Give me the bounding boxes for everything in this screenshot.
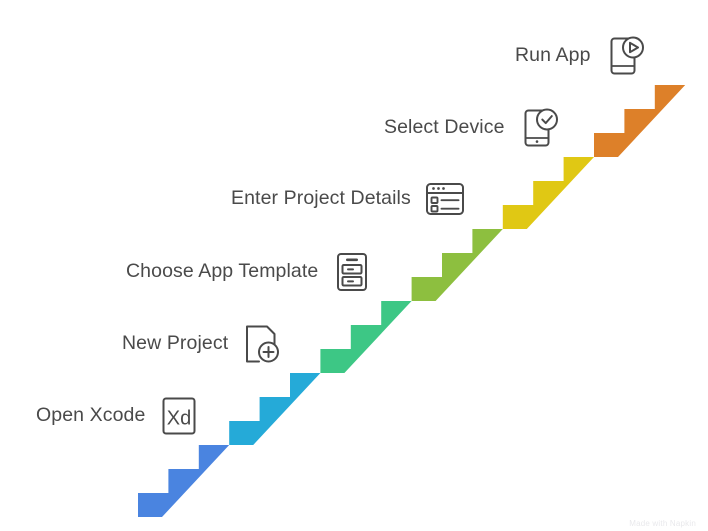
xd-square-icon: Xd bbox=[156, 393, 202, 439]
step-row-new-project[interactable]: New Project bbox=[122, 321, 285, 367]
step-label-run-app: Run App bbox=[515, 46, 602, 66]
stair-block-orange bbox=[594, 85, 685, 157]
form-window-icon bbox=[422, 176, 468, 222]
watermark-text: Made with Napkin bbox=[629, 519, 696, 528]
phone-check-icon bbox=[516, 105, 562, 151]
stair-block-blue bbox=[138, 445, 229, 517]
step-label-open-xcode: Open Xcode bbox=[36, 406, 156, 426]
step-row-enter-project-details[interactable]: Enter Project Details bbox=[231, 176, 468, 222]
diagram-canvas: Open Xcode Xd New Project Choose App Tem… bbox=[0, 0, 708, 531]
phone-play-icon bbox=[602, 33, 648, 79]
step-label-select-device: Select Device bbox=[384, 118, 516, 138]
svg-text:Xd: Xd bbox=[167, 408, 191, 430]
step-row-select-device[interactable]: Select Device bbox=[384, 105, 562, 151]
step-row-run-app[interactable]: Run App bbox=[515, 33, 648, 79]
stair-block-green bbox=[320, 301, 411, 373]
step-label-choose-app-template: Choose App Template bbox=[126, 262, 329, 282]
step-row-choose-app-template[interactable]: Choose App Template bbox=[126, 249, 375, 295]
template-card-stack-icon bbox=[329, 249, 375, 295]
step-label-new-project: New Project bbox=[122, 334, 239, 354]
step-label-enter-project-details: Enter Project Details bbox=[231, 189, 422, 209]
stair-block-yellow bbox=[503, 157, 594, 229]
new-document-plus-icon bbox=[239, 321, 285, 367]
stair-block-cyan bbox=[229, 373, 320, 445]
stair-block-lime bbox=[412, 229, 503, 301]
step-row-open-xcode[interactable]: Open Xcode Xd bbox=[36, 393, 202, 439]
